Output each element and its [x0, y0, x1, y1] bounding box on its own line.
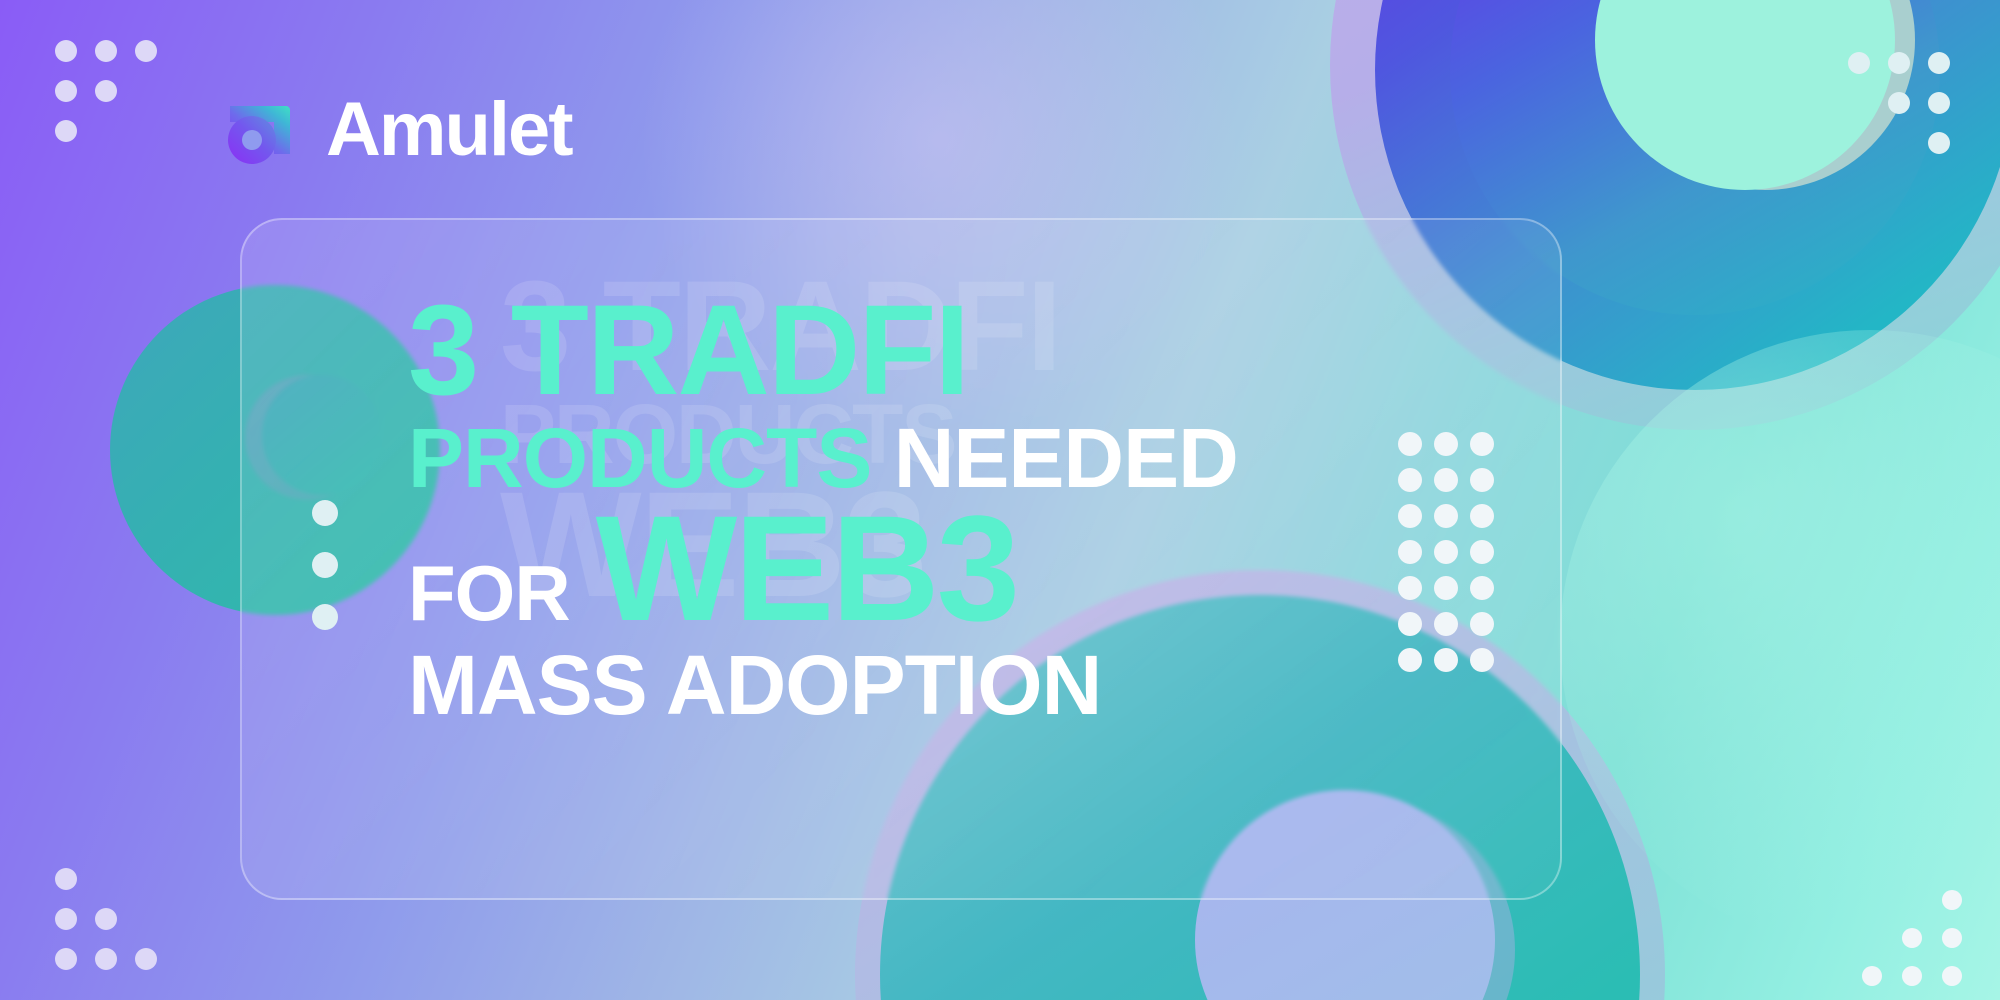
dot	[1928, 52, 1950, 74]
headline-line-3-white: FOR	[408, 558, 570, 630]
dot	[1470, 468, 1494, 492]
headline-line-3-mint: WEB3	[596, 499, 1017, 637]
dot	[1928, 132, 1950, 154]
dot	[95, 40, 117, 62]
dot	[1848, 52, 1870, 74]
dot	[312, 552, 338, 578]
dot	[95, 80, 117, 102]
dot	[55, 120, 77, 142]
dot	[55, 80, 77, 102]
dot	[95, 908, 117, 930]
headline-block: 3 TRADFI PRODUCTS NEEDED FOR WEB3 MASS A…	[408, 292, 1468, 724]
dot	[135, 948, 157, 970]
dot	[1902, 928, 1922, 948]
promo-banner: 3 TRADFI PRODUCTS WEB3	[0, 0, 2000, 1000]
brand-name: Amulet	[326, 92, 572, 168]
headline-line-1: 3 TRADFI	[408, 292, 1468, 410]
dot	[1928, 92, 1950, 114]
dot	[1470, 648, 1494, 672]
dot	[55, 908, 77, 930]
dot	[55, 868, 77, 890]
headline-line-4: MASS ADOPTION	[408, 647, 1468, 724]
dot	[1470, 540, 1494, 564]
dot	[55, 40, 77, 62]
headline-line-4-text: MASS ADOPTION	[408, 638, 1101, 732]
dot	[1470, 432, 1494, 456]
dot	[55, 948, 77, 970]
dot	[95, 948, 117, 970]
dot	[312, 604, 338, 630]
brand-lockup: Amulet	[222, 92, 572, 168]
dot	[1888, 92, 1910, 114]
dot	[312, 500, 338, 526]
dot	[135, 40, 157, 62]
dot	[1902, 966, 1922, 986]
dot	[1942, 890, 1962, 910]
amulet-logo-icon	[222, 92, 298, 168]
headline-line-1-text: 3 TRADFI	[408, 279, 968, 422]
dot	[1470, 612, 1494, 636]
dot	[1942, 928, 1962, 948]
headline-line-3: FOR WEB3	[408, 499, 1468, 637]
dot	[1862, 966, 1882, 986]
dot	[1942, 966, 1962, 986]
dot	[1888, 52, 1910, 74]
dot	[1470, 504, 1494, 528]
dot	[1470, 576, 1494, 600]
